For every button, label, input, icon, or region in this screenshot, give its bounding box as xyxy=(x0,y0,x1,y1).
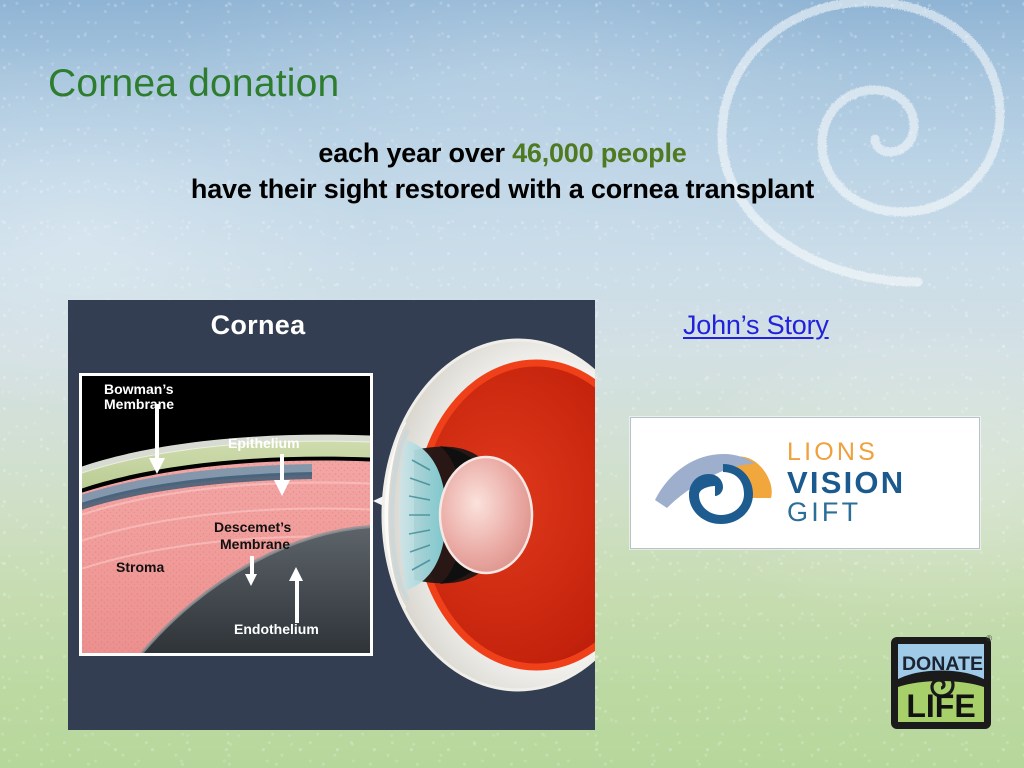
label-bowman-line1: Bowman’s xyxy=(104,381,174,397)
cornea-layers-inset: Bowman’s Membrane Epithelium Stroma Desc… xyxy=(79,373,373,656)
subtitle-highlight: 46,000 people xyxy=(512,138,687,168)
label-descemet-line2: Membrane xyxy=(220,536,290,552)
cornea-diagram: Cornea xyxy=(68,300,595,730)
subtitle-prefix: each year over xyxy=(318,138,512,168)
donate-life-word-donate: DONATE xyxy=(902,654,983,675)
registered-trademark-mark: ® xyxy=(986,634,992,643)
lions-eye-icon xyxy=(649,438,781,528)
johns-story-link[interactable]: John’s Story xyxy=(683,310,829,341)
subtitle-line-1: each year over 46,000 people xyxy=(0,136,1005,172)
page-title: Cornea donation xyxy=(48,62,339,106)
lions-word-vision: VISION xyxy=(787,467,905,498)
label-epithelium: Epithelium xyxy=(228,435,300,451)
donate-life-logo: DONATE LIFE ® xyxy=(891,637,991,729)
donate-life-badge-icon: DONATE LIFE xyxy=(891,637,991,729)
subtitle-line-2: have their sight restored with a cornea … xyxy=(0,172,1005,208)
lions-word-gift: GIFT xyxy=(787,499,905,526)
lions-word-lions: LIONS xyxy=(787,440,905,465)
eye-cross-section-illustration xyxy=(368,300,595,730)
lions-vision-gift-logo: LIONS VISION GIFT xyxy=(630,417,980,549)
donate-life-word-life: LIFE xyxy=(906,688,975,724)
lions-logo-wordmark: LIONS VISION GIFT xyxy=(787,440,905,526)
label-descemet-line1: Descemet’s xyxy=(214,519,292,535)
label-stroma: Stroma xyxy=(116,559,164,575)
cornea-layers-illustration: Bowman’s Membrane Epithelium Stroma Desc… xyxy=(82,376,370,653)
label-endothelium: Endothelium xyxy=(234,621,319,637)
label-bowman-line2: Membrane xyxy=(104,396,174,412)
subtitle-block: each year over 46,000 people have their … xyxy=(0,136,1005,207)
